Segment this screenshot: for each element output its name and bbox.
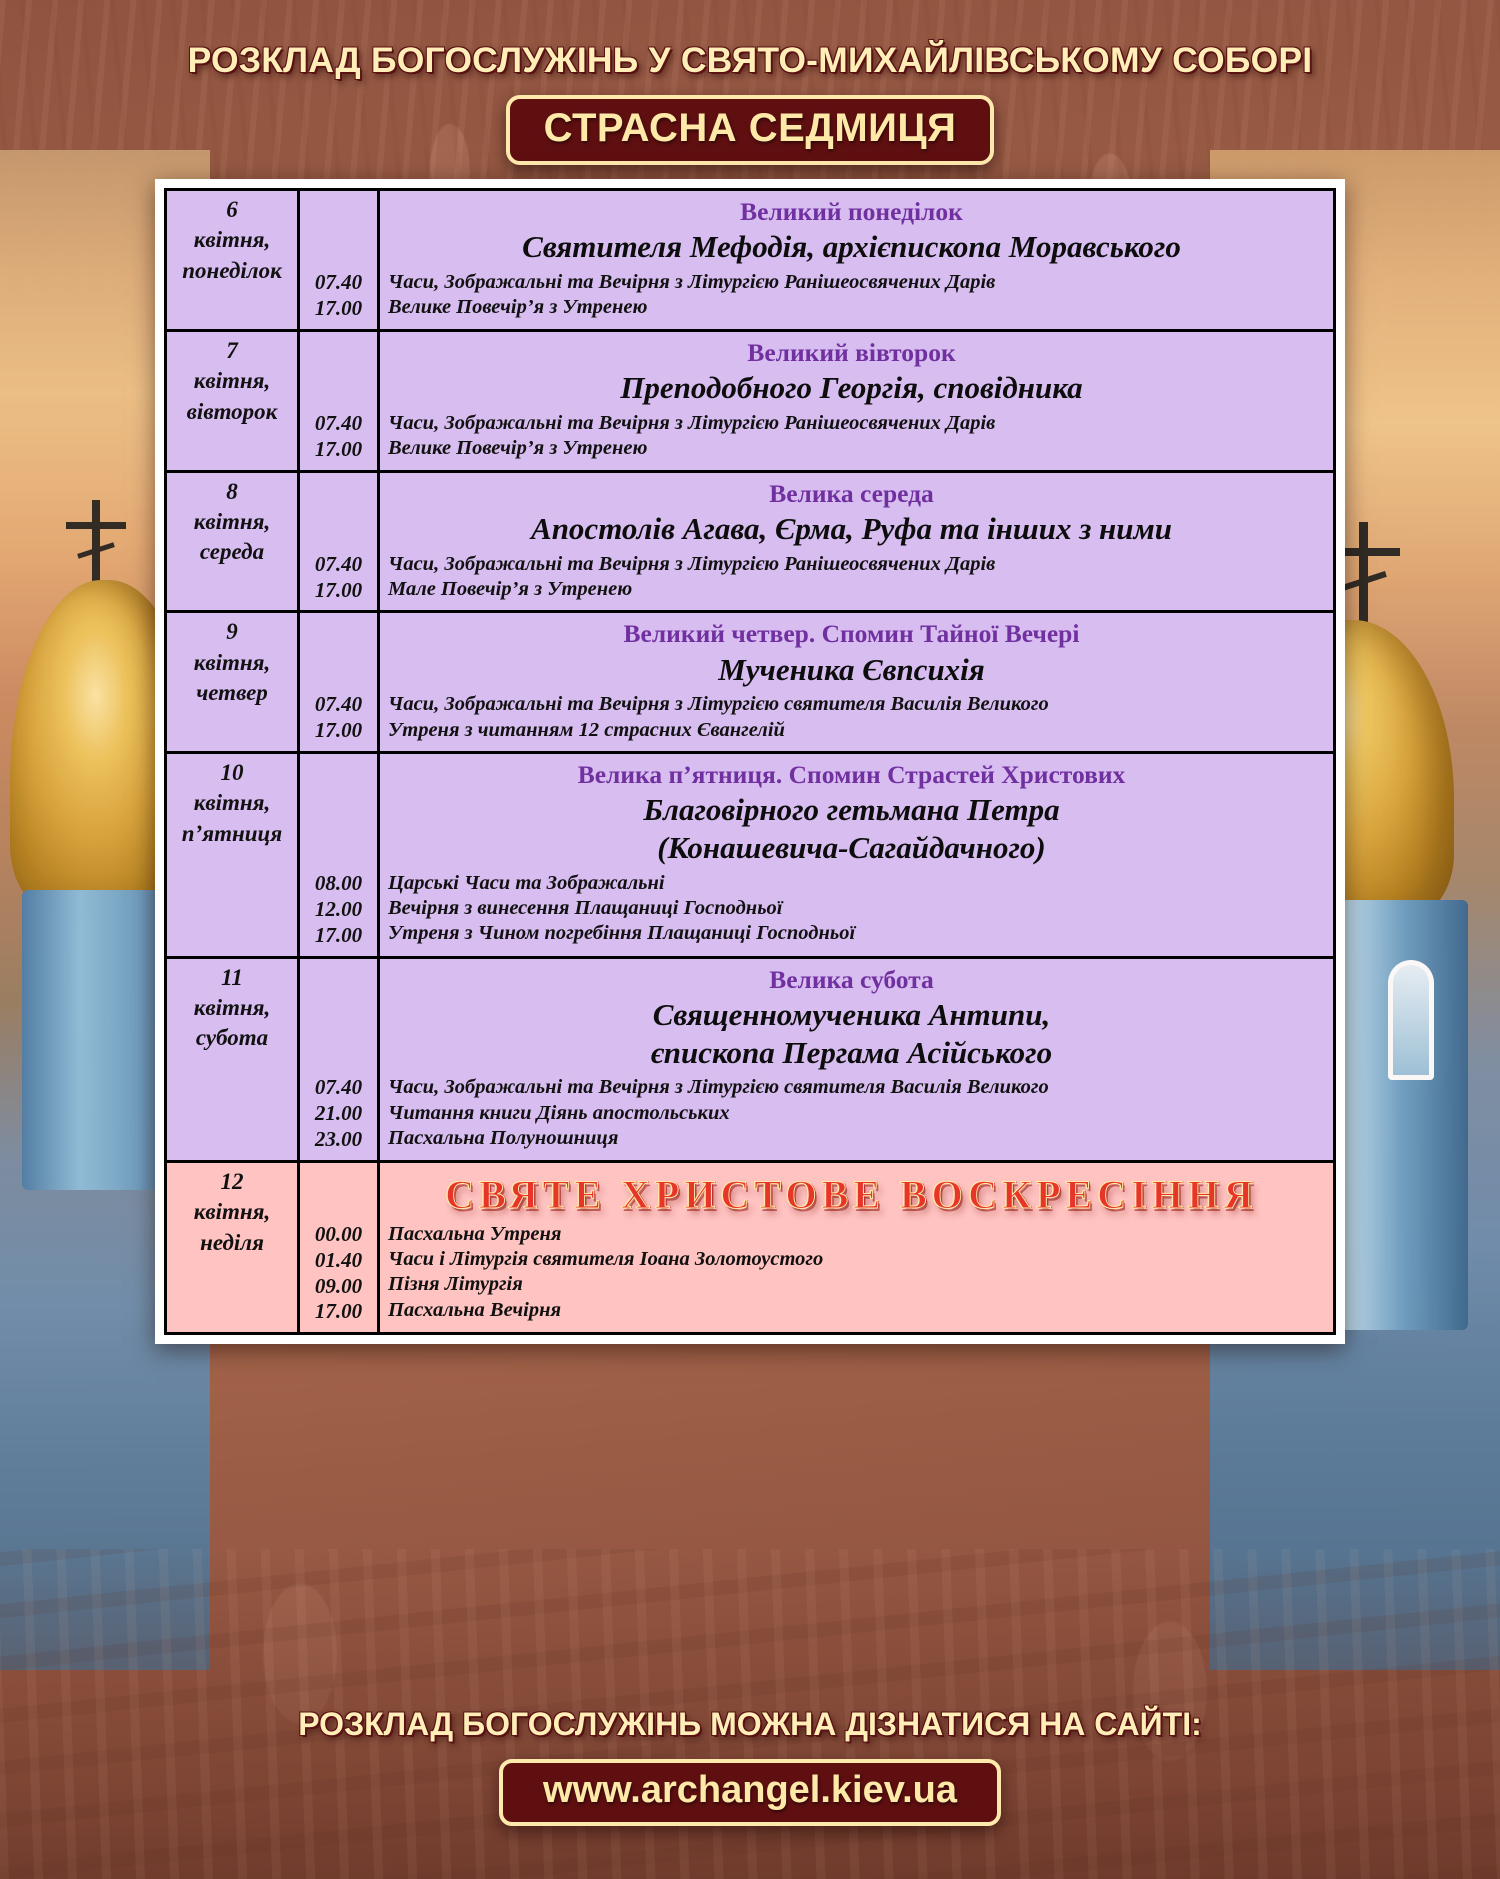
cell-description: СВЯТЕ ХРИСТОВЕ ВОСКРЕСІННЯПасхальна Утре… [379, 1161, 1335, 1333]
cell-description: Велика суботаСвященномученика Антипи,єпи… [379, 957, 1335, 1161]
date-line: 7 [169, 336, 295, 366]
saint-line: Священномученика Антипи, [380, 996, 1323, 1034]
service-time: 17.00 [300, 578, 377, 604]
time-list: 00.0001.4009.0017.00 [300, 1222, 377, 1332]
date-line: 11 [169, 963, 295, 993]
date-line: 10 [169, 758, 295, 788]
table-row: 6квітня,понеділок07.4017.00Великий понед… [166, 190, 1335, 331]
date-line: субота [169, 1023, 295, 1053]
time-list: 07.4017.00 [300, 552, 377, 611]
cell-times: 07.4017.00 [299, 471, 379, 612]
cell-description: Велика середаАпостолів Агава, Єрма, Руфа… [379, 471, 1335, 612]
saint-commemoration: Мученика Євпсихія [380, 651, 1323, 693]
service-time: 07.40 [300, 411, 377, 437]
time-list: 07.4017.00 [300, 411, 377, 470]
poster-header: РОЗКЛАД БОГОСЛУЖІНЬ У СВЯТО-МИХАЙЛІВСЬКО… [0, 0, 1500, 165]
poster-footer: РОЗКЛАД БОГОСЛУЖІНЬ МОЖНА ДІЗНАТИСЯ НА С… [0, 1706, 1500, 1826]
window-right [1388, 960, 1434, 1080]
cell-date: 12квітня,неділя [166, 1161, 299, 1333]
service-list: Часи, Зображальні та Вечірня з Літургією… [380, 552, 1323, 602]
table-row: 9квітня,четвер07.4017.00Великий четвер. … [166, 612, 1335, 753]
cell-date: 8квітня,середа [166, 471, 299, 612]
saint-commemoration: Благовірного гетьмана Петра(Конашевича-С… [380, 791, 1323, 871]
service-time: 21.00 [300, 1101, 377, 1127]
date-line: квітня, [169, 993, 295, 1023]
service-list: Часи, Зображальні та Вечірня з Літургією… [380, 1075, 1323, 1151]
time-list: 07.4017.00 [300, 692, 377, 751]
cell-description: Велика п’ятниця. Спомин Страстей Христов… [379, 753, 1335, 957]
time-list: 08.0012.0017.00 [300, 871, 377, 955]
service-name: Царські Часи та Зображальні [388, 871, 1323, 896]
service-list: Пасхальна УтреняЧаси і Літургія святител… [380, 1222, 1323, 1323]
date-line: квітня, [169, 788, 295, 818]
cell-description: Великий вівторокПреподобного Георгія, сп… [379, 330, 1335, 471]
season-badge-wrap: СТРАСНА СЕДМИЦЯ [0, 95, 1500, 165]
page-title: РОЗКЛАД БОГОСЛУЖІНЬ У СВЯТО-МИХАЙЛІВСЬКО… [0, 40, 1500, 81]
cell-date: 9квітня,четвер [166, 612, 299, 753]
table-row: 8квітня,середа07.4017.00Велика середаАпо… [166, 471, 1335, 612]
date-line: п’ятниця [169, 819, 295, 849]
day-title: Велика субота [380, 959, 1323, 996]
saint-commemoration: Апостолів Агава, Єрма, Руфа та інших з н… [380, 510, 1323, 552]
cell-times: 07.4017.00 [299, 190, 379, 331]
poster-root: РОЗКЛАД БОГОСЛУЖІНЬ У СВЯТО-МИХАЙЛІВСЬКО… [0, 0, 1500, 1879]
table-row: 10квітня,п’ятниця08.0012.0017.00Велика п… [166, 753, 1335, 957]
cell-date: 11квітня,субота [166, 957, 299, 1161]
schedule-frame: 6квітня,понеділок07.4017.00Великий понед… [155, 179, 1345, 1344]
day-title: Великий понеділок [380, 191, 1323, 228]
website-badge-wrap: www.archangel.kiev.ua [0, 1759, 1500, 1826]
service-name: Пасхальна Вечірня [388, 1298, 1323, 1323]
service-name: Пасхальна Полуношниця [388, 1126, 1323, 1151]
saint-commemoration: Священномученика Антипи,єпископа Пергама… [380, 996, 1323, 1076]
date-line: квітня, [169, 225, 295, 255]
date-line: 12 [169, 1167, 295, 1197]
date-line: квітня, [169, 1197, 295, 1227]
service-name: Утреня з читанням 12 страсних Євангелій [388, 718, 1323, 743]
service-time: 12.00 [300, 897, 377, 923]
service-time: 09.00 [300, 1274, 377, 1300]
table-row: 7квітня,вівторок07.4017.00Великий вівтор… [166, 330, 1335, 471]
date-line: понеділок [169, 256, 295, 286]
service-name: Читання книги Діянь апостольських [388, 1101, 1323, 1126]
date-line: 8 [169, 477, 295, 507]
cell-description: Великий понеділокСвятителя Мефодія, архі… [379, 190, 1335, 331]
service-time: 17.00 [300, 296, 377, 322]
service-name: Часи, Зображальні та Вечірня з Літургією… [388, 411, 1323, 436]
saint-line: Апостолів Агава, Єрма, Руфа та інших з н… [380, 510, 1323, 548]
service-name: Вечірня з винесення Плащаниці Господньої [388, 896, 1323, 921]
service-name: Часи, Зображальні та Вечірня з Літургією… [388, 552, 1323, 577]
date-line: квітня, [169, 366, 295, 396]
service-name: Часи, Зображальні та Вечірня з Літургією… [388, 692, 1323, 717]
table-row: 12квітня,неділя00.0001.4009.0017.00СВЯТЕ… [166, 1161, 1335, 1333]
date-line: вівторок [169, 397, 295, 427]
website-link[interactable]: www.archangel.kiev.ua [499, 1759, 1001, 1826]
day-title: Великий вівторок [380, 332, 1323, 369]
date-line: квітня, [169, 648, 295, 678]
service-name: Пізня Літургія [388, 1272, 1323, 1297]
service-time: 01.40 [300, 1248, 377, 1274]
date-line: четвер [169, 678, 295, 708]
service-name: Утреня з Чином погребіння Плащаниці Госп… [388, 921, 1323, 946]
service-list: Часи, Зображальні та Вечірня з Літургією… [380, 411, 1323, 461]
cell-date: 10квітня,п’ятниця [166, 753, 299, 957]
saint-line: (Конашевича-Сагайдачного) [380, 829, 1323, 867]
saint-line: Мученика Євпсихія [380, 651, 1323, 689]
day-title: Велика середа [380, 473, 1323, 510]
service-time: 00.00 [300, 1222, 377, 1248]
service-name: Часи і Літургія святителя Іоана Золотоус… [388, 1247, 1323, 1272]
date-line: середа [169, 537, 295, 567]
service-name: Часи, Зображальні та Вечірня з Літургією… [388, 1075, 1323, 1100]
service-name: Часи, Зображальні та Вечірня з Літургією… [388, 270, 1323, 295]
day-title: Велика п’ятниця. Спомин Страстей Христов… [380, 754, 1323, 791]
service-time: 17.00 [300, 923, 377, 949]
service-time: 07.40 [300, 552, 377, 578]
date-line: 9 [169, 617, 295, 647]
saint-line: Благовірного гетьмана Петра [380, 791, 1323, 829]
saint-commemoration: Святителя Мефодія, архієпископа Моравськ… [380, 228, 1323, 270]
cell-times: 07.4017.00 [299, 612, 379, 753]
saint-commemoration: Преподобного Георгія, сповідника [380, 369, 1323, 411]
easter-banner: СВЯТЕ ХРИСТОВЕ ВОСКРЕСІННЯ [380, 1163, 1323, 1222]
cell-date: 7квітня,вівторок [166, 330, 299, 471]
cell-times: 00.0001.4009.0017.00 [299, 1161, 379, 1333]
service-time: 17.00 [300, 718, 377, 744]
service-time: 17.00 [300, 437, 377, 463]
date-line: неділя [169, 1228, 295, 1258]
service-list: Часи, Зображальні та Вечірня з Літургією… [380, 270, 1323, 320]
time-list: 07.4017.00 [300, 270, 377, 329]
service-time: 07.40 [300, 270, 377, 296]
time-list: 07.4021.0023.00 [300, 1075, 377, 1159]
service-name: Мале Повечір’я з Утренею [388, 577, 1323, 602]
service-time: 07.40 [300, 1075, 377, 1101]
saint-line: Преподобного Георгія, сповідника [380, 369, 1323, 407]
season-badge: СТРАСНА СЕДМИЦЯ [506, 95, 995, 165]
service-name: Велике Повечір’я з Утренею [388, 436, 1323, 461]
service-name: Пасхальна Утреня [388, 1222, 1323, 1247]
service-name: Велике Повечір’я з Утренею [388, 295, 1323, 320]
cell-times: 07.4021.0023.00 [299, 957, 379, 1161]
cell-date: 6квітня,понеділок [166, 190, 299, 331]
service-time: 17.00 [300, 1299, 377, 1325]
footer-note: РОЗКЛАД БОГОСЛУЖІНЬ МОЖНА ДІЗНАТИСЯ НА С… [0, 1706, 1500, 1743]
date-line: 6 [169, 195, 295, 225]
orthodox-cross-icon [92, 500, 100, 592]
service-time: 07.40 [300, 692, 377, 718]
cell-times: 08.0012.0017.00 [299, 753, 379, 957]
orthodox-cross-icon [1359, 522, 1368, 632]
saint-line: єпископа Пергама Асійського [380, 1034, 1323, 1072]
table-row: 11квітня,субота07.4021.0023.00Велика суб… [166, 957, 1335, 1161]
cell-times: 07.4017.00 [299, 330, 379, 471]
service-list: Царські Часи та ЗображальніВечірня з вин… [380, 871, 1323, 947]
day-title: Великий четвер. Спомин Тайної Вечері [380, 613, 1323, 650]
saint-line: Святителя Мефодія, архієпископа Моравськ… [380, 228, 1323, 266]
service-list: Часи, Зображальні та Вечірня з Літургією… [380, 692, 1323, 742]
service-time: 23.00 [300, 1127, 377, 1153]
date-line: квітня, [169, 507, 295, 537]
cell-description: Великий четвер. Спомин Тайної ВечеріМуче… [379, 612, 1335, 753]
schedule-table: 6квітня,понеділок07.4017.00Великий понед… [164, 188, 1336, 1335]
service-time: 08.00 [300, 871, 377, 897]
